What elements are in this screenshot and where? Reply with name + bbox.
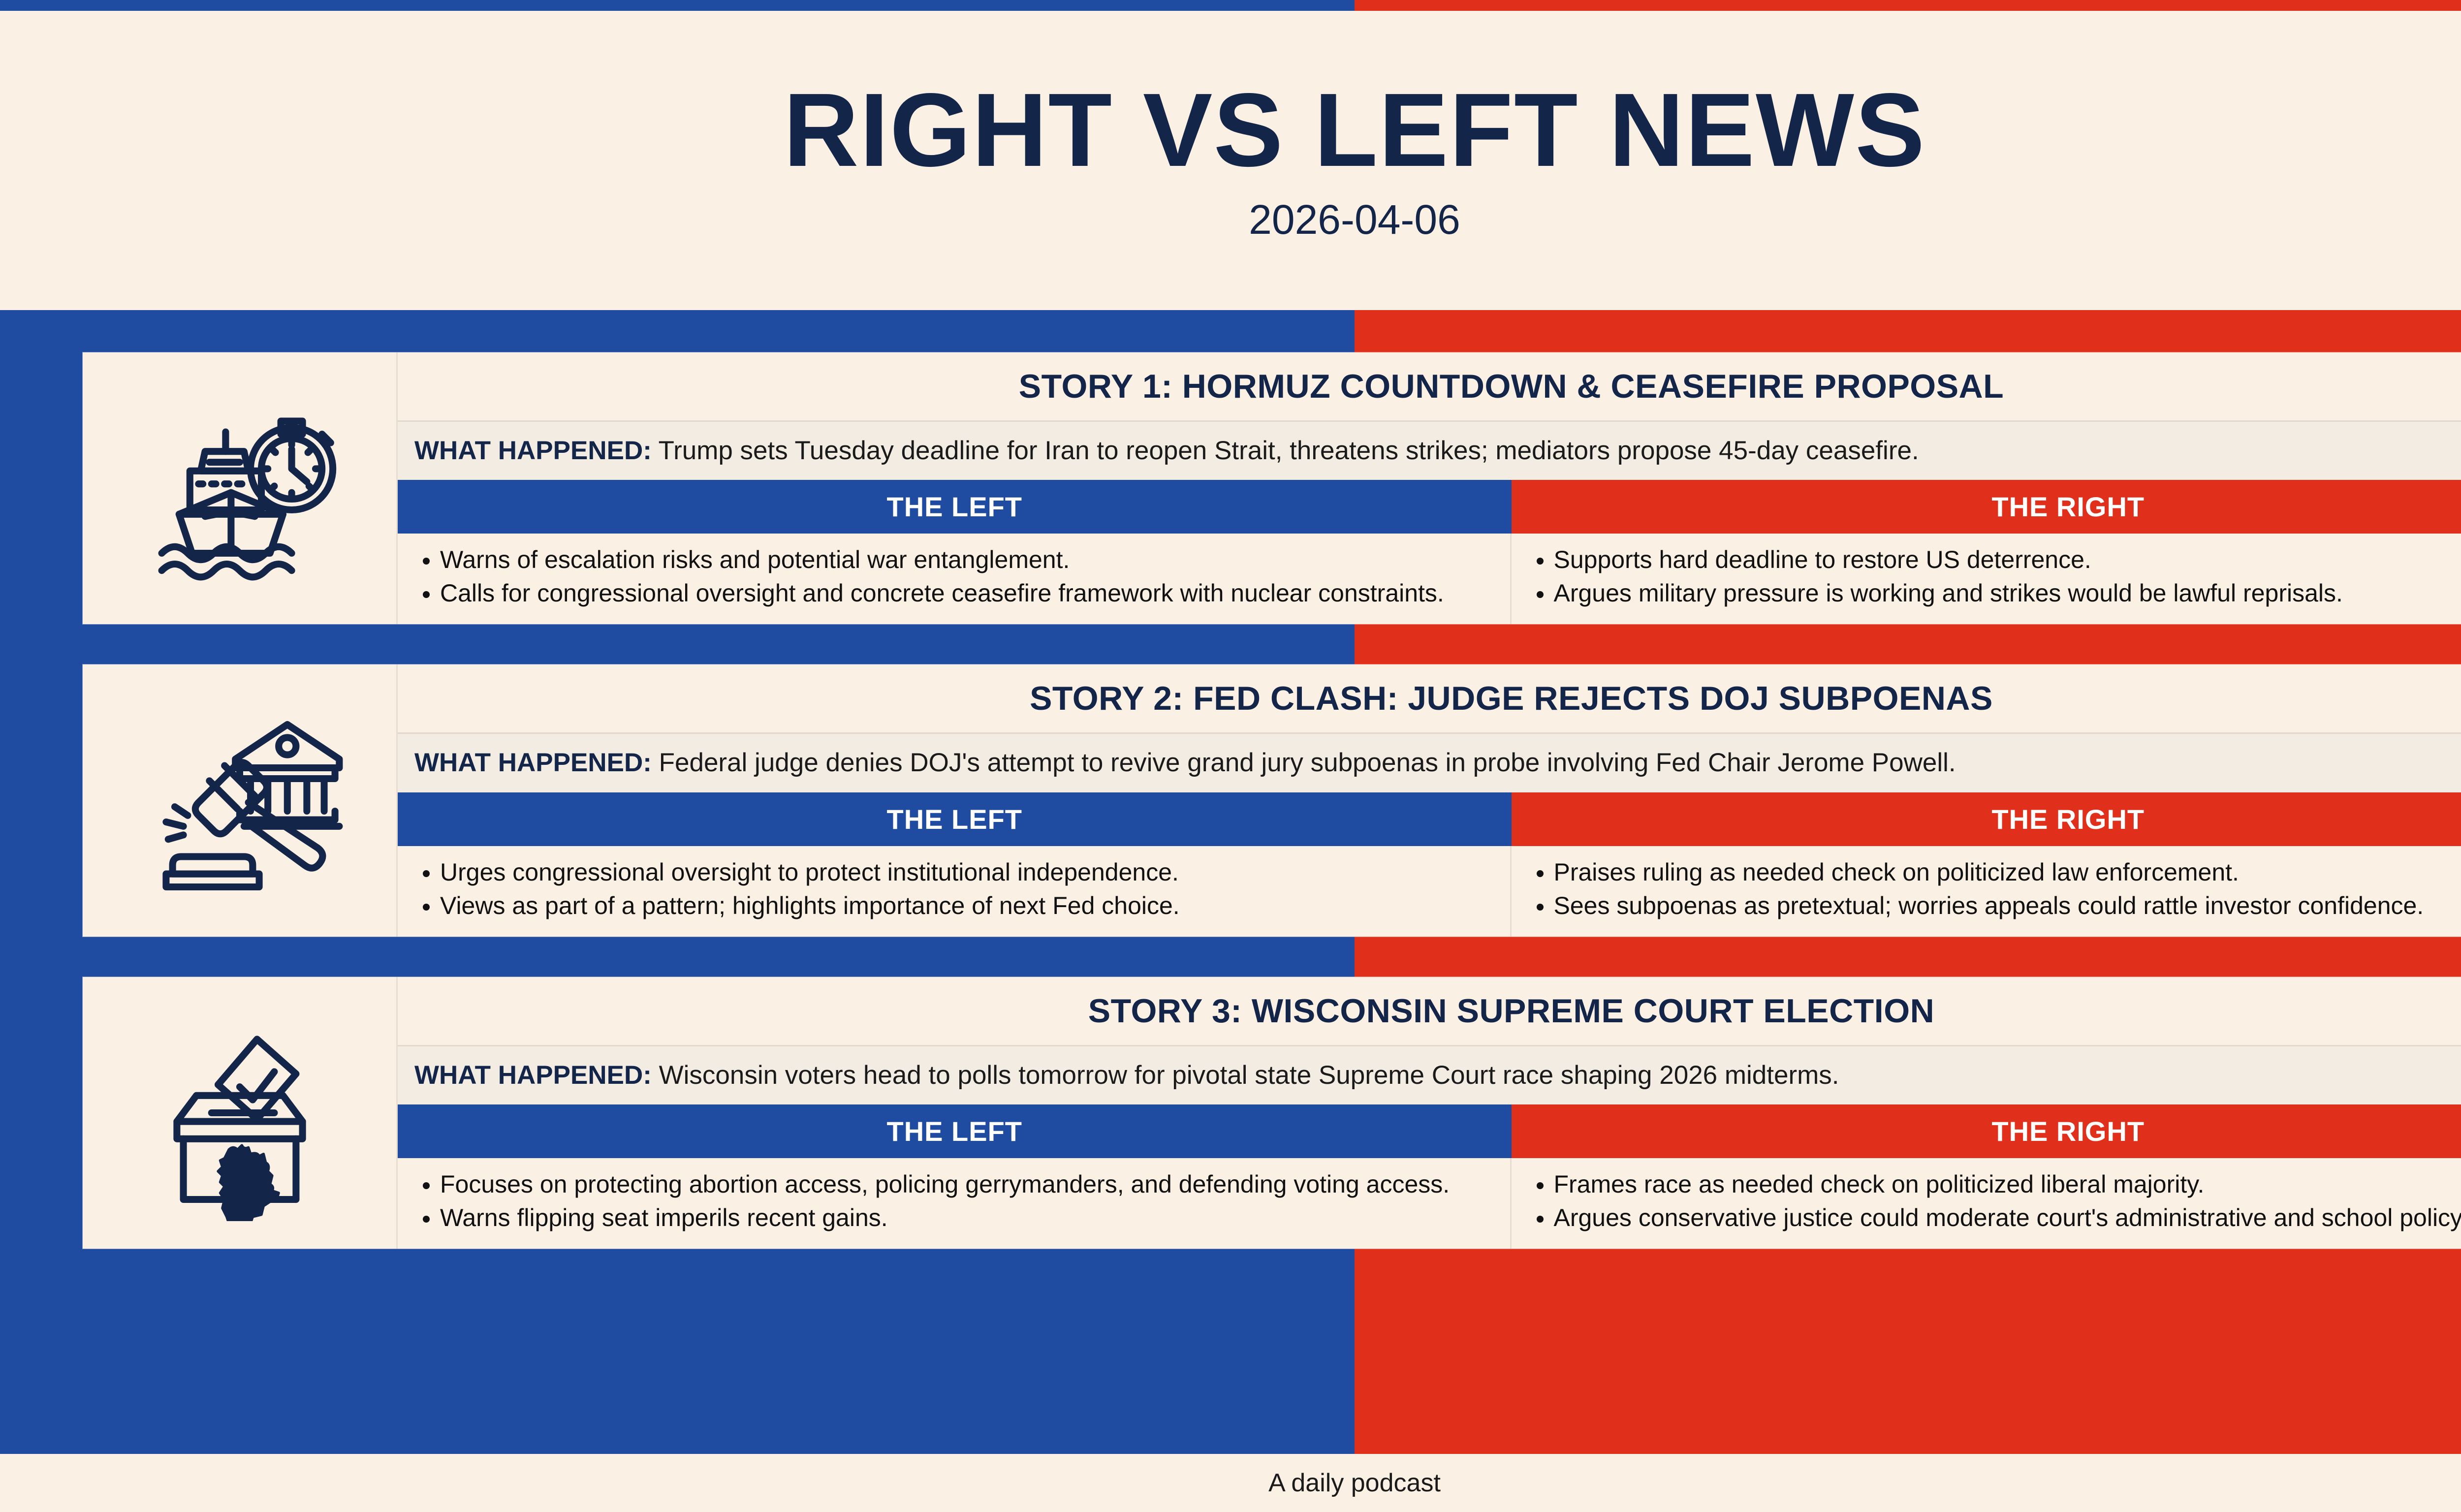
what-happened-label: WHAT HAPPENED:	[414, 1061, 652, 1090]
right-column-body: Supports hard deadline to restore US det…	[1512, 534, 2461, 624]
what-happened-text: Wisconsin voters head to polls tomorrow …	[652, 1061, 1839, 1090]
right-bullet-list: Supports hard deadline to restore US det…	[1531, 544, 2461, 608]
page-header: RIGHT VS LEFT NEWS 2026-04-06	[0, 11, 2461, 310]
right-column-heading: THE RIGHT	[1512, 1104, 2461, 1158]
story-body: STORY 2: FED CLASH: JUDGE REJECTS DOJ SU…	[398, 664, 2461, 936]
left-column-body: Urges congressional oversight to protect…	[398, 846, 1512, 937]
story-body: STORY 3: WISCONSIN SUPREME COURT ELECTIO…	[398, 977, 2461, 1249]
top-strip-red	[1355, 0, 2461, 11]
story-what-happened: WHAT HAPPENED: Wisconsin voters head to …	[398, 1046, 2461, 1104]
side-headings-row: THE LEFT THE RIGHT	[398, 480, 2461, 534]
story-what-happened: WHAT HAPPENED: Trump sets Tuesday deadli…	[398, 422, 2461, 480]
story-title: STORY 1: HORMUZ COUNTDOWN & CEASEFIRE PR…	[398, 352, 2461, 422]
right-column-body: Frames race as needed check on politiciz…	[1512, 1158, 2461, 1249]
list-item: Frames race as needed check on politiciz…	[1554, 1169, 2461, 1199]
side-headings-row: THE LEFT THE RIGHT	[398, 792, 2461, 846]
bottom-strip-blue	[0, 1443, 1355, 1454]
left-column-heading: THE LEFT	[398, 1104, 1512, 1158]
page-title: RIGHT VS LEFT NEWS	[784, 78, 1926, 182]
ship-stopwatch-icon	[131, 380, 348, 597]
what-happened-label: WHAT HAPPENED:	[414, 436, 652, 465]
top-strip-blue	[0, 0, 1355, 11]
bottom-flag-strip	[0, 1443, 2461, 1454]
left-column-heading: THE LEFT	[398, 792, 1512, 846]
what-happened-label: WHAT HAPPENED:	[414, 748, 652, 777]
side-bodies-row: Warns of escalation risks and potential …	[398, 534, 2461, 624]
side-bodies-row: Focuses on protecting abortion access, p…	[398, 1158, 2461, 1249]
story-card: STORY 3: WISCONSIN SUPREME COURT ELECTIO…	[83, 977, 2461, 1249]
ballot-box-wisconsin-icon	[131, 1005, 348, 1221]
left-column-body: Focuses on protecting abortion access, p…	[398, 1158, 1512, 1249]
right-bullet-list: Praises ruling as needed check on politi…	[1531, 857, 2461, 921]
story-body: STORY 1: HORMUZ COUNTDOWN & CEASEFIRE PR…	[398, 352, 2461, 624]
stories-container: STORY 1: HORMUZ COUNTDOWN & CEASEFIRE PR…	[83, 310, 2461, 1443]
what-happened-text: Federal judge denies DOJ's attempt to re…	[652, 748, 1956, 777]
right-column-heading: THE RIGHT	[1512, 792, 2461, 846]
right-bullet-list: Frames race as needed check on politiciz…	[1531, 1169, 2461, 1233]
list-item: Praises ruling as needed check on politi…	[1554, 857, 2461, 887]
list-item: Supports hard deadline to restore US det…	[1554, 544, 2461, 575]
left-bullet-list: Focuses on protecting abortion access, p…	[417, 1169, 1490, 1233]
story-card: STORY 1: HORMUZ COUNTDOWN & CEASEFIRE PR…	[83, 352, 2461, 624]
story-icon-cell	[83, 352, 398, 624]
list-item: Sees subpoenas as pretextual; worries ap…	[1554, 890, 2461, 921]
what-happened-text: Trump sets Tuesday deadline for Iran to …	[652, 436, 1919, 465]
side-bodies-row: Urges congressional oversight to protect…	[398, 846, 2461, 937]
list-item: Urges congressional oversight to protect…	[440, 857, 1490, 887]
page-footer: A daily podcast	[0, 1454, 2461, 1512]
story-what-happened: WHAT HAPPENED: Federal judge denies DOJ'…	[398, 734, 2461, 792]
bottom-strip-red	[1355, 1443, 2461, 1454]
list-item: Calls for congressional oversight and co…	[440, 578, 1490, 608]
left-column-heading: THE LEFT	[398, 480, 1512, 534]
right-column-heading: THE RIGHT	[1512, 480, 2461, 534]
gavel-courthouse-icon	[131, 692, 348, 909]
list-item: Warns of escalation risks and potential …	[440, 544, 1490, 575]
left-bullet-list: Urges congressional oversight to protect…	[417, 857, 1490, 921]
story-title: STORY 3: WISCONSIN SUPREME COURT ELECTIO…	[398, 977, 2461, 1046]
left-bullet-list: Warns of escalation risks and potential …	[417, 544, 1490, 608]
story-card: STORY 2: FED CLASH: JUDGE REJECTS DOJ SU…	[83, 664, 2461, 936]
list-item: Argues military pressure is working and …	[1554, 578, 2461, 608]
story-icon-cell	[83, 977, 398, 1249]
left-column-body: Warns of escalation risks and potential …	[398, 534, 1512, 624]
side-headings-row: THE LEFT THE RIGHT	[398, 1104, 2461, 1158]
footer-text: A daily podcast	[1268, 1468, 1441, 1498]
list-item: Views as part of a pattern; highlights i…	[440, 890, 1490, 921]
story-title: STORY 2: FED CLASH: JUDGE REJECTS DOJ SU…	[398, 664, 2461, 734]
list-item: Focuses on protecting abortion access, p…	[440, 1169, 1490, 1199]
story-icon-cell	[83, 664, 398, 936]
list-item: Argues conservative justice could modera…	[1554, 1202, 2461, 1233]
page-date: 2026-04-06	[1249, 196, 1460, 244]
right-column-body: Praises ruling as needed check on politi…	[1512, 846, 2461, 937]
top-flag-strip	[0, 0, 2461, 11]
list-item: Warns flipping seat imperils recent gain…	[440, 1202, 1490, 1233]
